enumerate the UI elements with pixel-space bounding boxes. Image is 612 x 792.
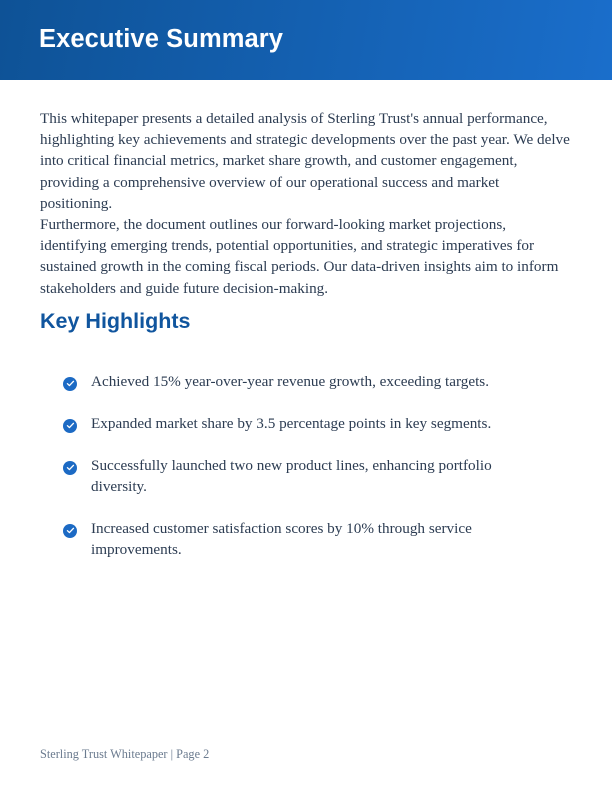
page-title: Executive Summary (39, 27, 283, 53)
body-paragraph: Furthermore, the document outlines our f… (40, 214, 572, 299)
list-item-label: Expanded market share by 3.5 percentage … (91, 413, 491, 434)
list-item: Expanded market share by 3.5 percentage … (40, 413, 572, 434)
check-circle-icon (63, 377, 77, 391)
list-item: Achieved 15% year-over-year revenue grow… (40, 371, 572, 392)
list-item: Increased customer satisfaction scores b… (40, 518, 572, 560)
list-item-label: Successfully launched two new product li… (91, 455, 523, 497)
page-header-banner: Executive Summary (0, 0, 612, 80)
section-heading-key-highlights: Key Highlights (40, 308, 572, 335)
document-page: Executive Summary This whitepaper presen… (0, 0, 612, 792)
body-paragraph: This whitepaper presents a detailed anal… (40, 108, 572, 214)
page-footer: Sterling Trust Whitepaper | Page 2 (40, 747, 209, 763)
check-circle-icon (63, 419, 77, 433)
check-circle-icon (63, 524, 77, 538)
intro-section: This whitepaper presents a detailed anal… (40, 108, 572, 299)
list-item: Successfully launched two new product li… (40, 455, 572, 497)
check-circle-icon (63, 461, 77, 475)
list-item-label: Achieved 15% year-over-year revenue grow… (91, 371, 489, 392)
list-item-label: Increased customer satisfaction scores b… (91, 518, 523, 560)
key-highlights-list: Achieved 15% year-over-year revenue grow… (40, 371, 572, 560)
page-content: This whitepaper presents a detailed anal… (0, 80, 612, 560)
